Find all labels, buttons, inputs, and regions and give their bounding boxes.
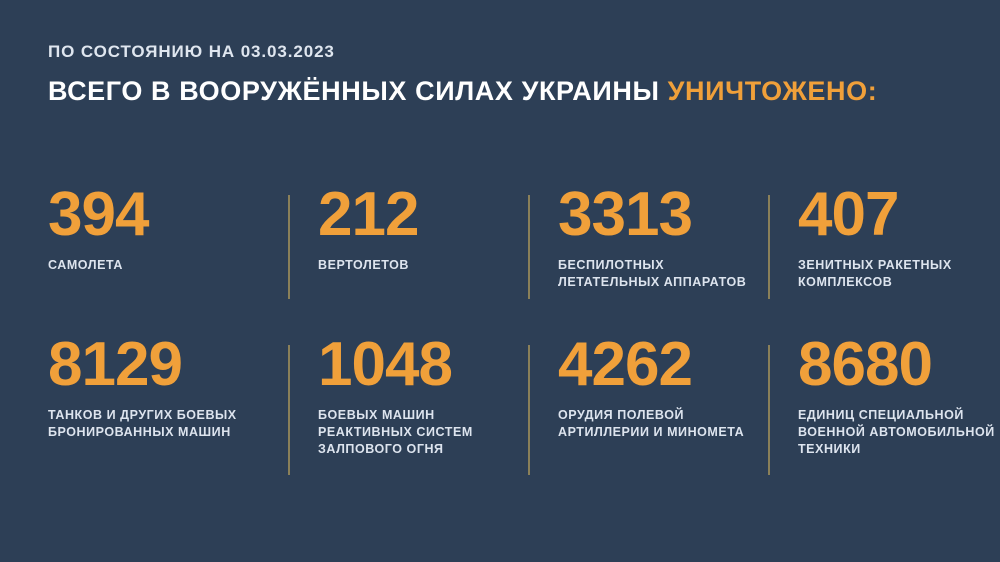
stat-value: 3313: [558, 186, 768, 245]
stat-card-uav: 3313 БЕСПИЛОТНЫХ ЛЕТАТЕЛЬНЫХ АППАРАТОВ: [528, 186, 768, 291]
page-title: ВСЕГО В ВООРУЖЁННЫХ СИЛАХ УКРАИНЫ УНИЧТО…: [48, 76, 960, 107]
infographic-poster: ПО СОСТОЯНИЮ НА 03.03.2023 ВСЕГО В ВООРУ…: [0, 0, 1000, 562]
report-date-line: ПО СОСТОЯНИЮ НА 03.03.2023: [48, 42, 960, 62]
stat-label: САМОЛЕТА: [48, 257, 288, 274]
page-title-main: ВСЕГО В ВООРУЖЁННЫХ СИЛАХ УКРАИНЫ: [48, 76, 660, 106]
column-divider: [768, 345, 770, 475]
stat-value: 8129: [48, 336, 288, 395]
stats-row-1: 394 САМОЛЕТА 212 ВЕРТОЛЕТОВ 3313 БЕСПИЛО…: [48, 186, 960, 336]
stat-card-military-vehicles: 8680 ЕДИНИЦ СПЕЦИАЛЬНОЙ ВОЕННОЙ АВТОМОБИ…: [768, 336, 1000, 459]
stat-label: ЗЕНИТНЫХ РАКЕТНЫХ КОМПЛЕКСОВ: [798, 257, 1000, 292]
stat-card-mlrs: 1048 БОЕВЫХ МАШИН РЕАКТИВНЫХ СИСТЕМ ЗАЛП…: [288, 336, 528, 459]
stat-label: ОРУДИЯ ПОЛЕВОЙ АРТИЛЛЕРИИ И МИНОМЕТА: [558, 407, 768, 442]
stat-label: БЕСПИЛОТНЫХ ЛЕТАТЕЛЬНЫХ АППАРАТОВ: [558, 257, 768, 292]
column-divider: [288, 195, 290, 299]
stat-value: 8680: [798, 336, 1000, 395]
stat-card-aircraft: 394 САМОЛЕТА: [48, 186, 288, 274]
stats-row-2: 8129 ТАНКОВ И ДРУГИХ БОЕВЫХ БРОНИРОВАННЫ…: [48, 336, 960, 486]
stat-value: 212: [318, 186, 528, 245]
stat-value: 1048: [318, 336, 528, 395]
column-divider: [528, 345, 530, 475]
page-title-accent: УНИЧТОЖЕНО:: [668, 76, 878, 106]
stat-value: 407: [798, 186, 1000, 245]
stat-label: ЕДИНИЦ СПЕЦИАЛЬНОЙ ВОЕННОЙ АВТОМОБИЛЬНОЙ…: [798, 407, 1000, 459]
stat-card-tanks: 8129 ТАНКОВ И ДРУГИХ БОЕВЫХ БРОНИРОВАННЫ…: [48, 336, 288, 441]
poster-header: ПО СОСТОЯНИЮ НА 03.03.2023 ВСЕГО В ВООРУ…: [48, 42, 960, 107]
stat-card-air-defence: 407 ЗЕНИТНЫХ РАКЕТНЫХ КОМПЛЕКСОВ: [768, 186, 1000, 291]
stats-grid: 394 САМОЛЕТА 212 ВЕРТОЛЕТОВ 3313 БЕСПИЛО…: [48, 186, 960, 486]
stat-label: ТАНКОВ И ДРУГИХ БОЕВЫХ БРОНИРОВАННЫХ МАШ…: [48, 407, 288, 442]
stat-card-helicopters: 212 ВЕРТОЛЕТОВ: [288, 186, 528, 274]
column-divider: [768, 195, 770, 299]
stat-value: 394: [48, 186, 288, 245]
column-divider: [528, 195, 530, 299]
stat-value: 4262: [558, 336, 768, 395]
column-divider: [288, 345, 290, 475]
stat-label: ВЕРТОЛЕТОВ: [318, 257, 528, 274]
stat-card-artillery: 4262 ОРУДИЯ ПОЛЕВОЙ АРТИЛЛЕРИИ И МИНОМЕТ…: [528, 336, 768, 441]
stat-label: БОЕВЫХ МАШИН РЕАКТИВНЫХ СИСТЕМ ЗАЛПОВОГО…: [318, 407, 528, 459]
